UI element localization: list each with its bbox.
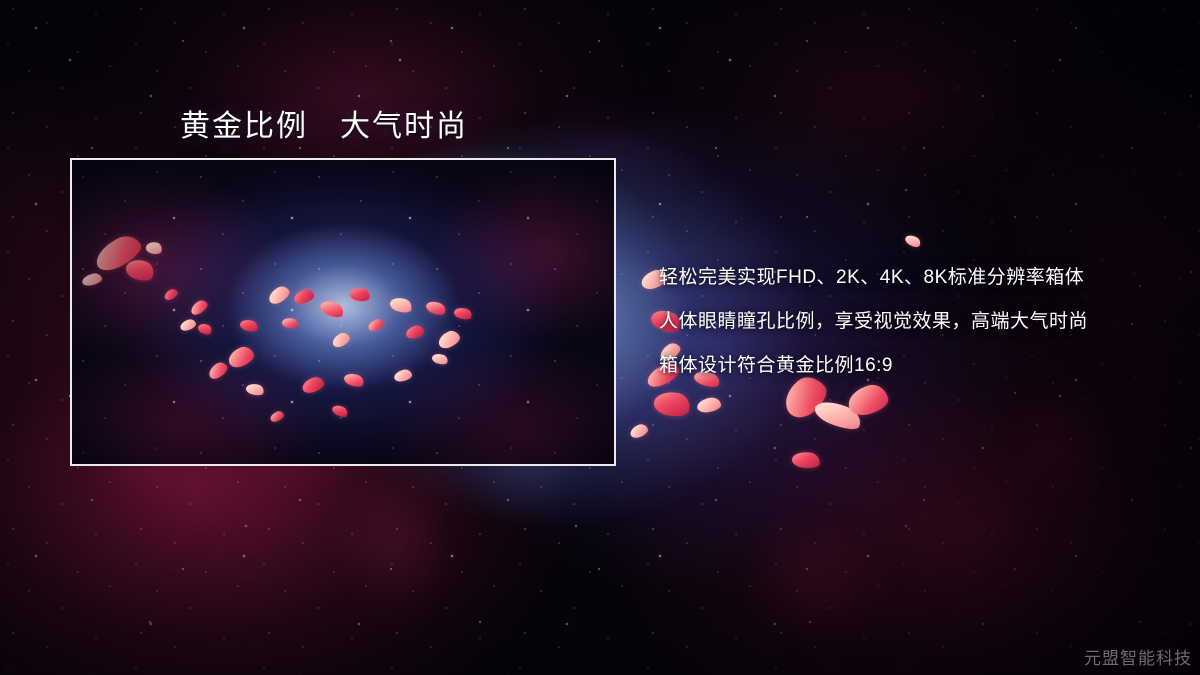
body-line: 轻松完美实现FHD、2K、4K、8K标准分辨率箱体 [659, 256, 1159, 300]
petal-shape [812, 396, 865, 434]
page-title: 黄金比例 大气时尚 [180, 101, 468, 145]
body-line: 箱体设计符合黄金比例16:9 [659, 344, 1159, 388]
body-text-block: 轻松完美实现FHD、2K、4K、8K标准分辨率箱体 人体眼睛瞳孔比例，享受视觉效… [659, 256, 1159, 388]
petal-shape [791, 450, 821, 470]
framed-image-panel [70, 158, 616, 466]
slide-canvas: 黄金比例 大气时尚 轻松完美实现FHD、2K、4K、8K标准分辨率箱体 人体眼睛… [0, 0, 1200, 675]
petal-shape [628, 422, 649, 439]
petal-shape [904, 233, 923, 250]
petal-shape [652, 389, 692, 420]
petal-shape [696, 396, 722, 413]
watermark: 元盟智能科技 [1084, 644, 1192, 669]
body-line: 人体眼睛瞳孔比例，享受视觉效果，高端大气时尚 [659, 300, 1159, 344]
panel-vignette [72, 160, 614, 464]
